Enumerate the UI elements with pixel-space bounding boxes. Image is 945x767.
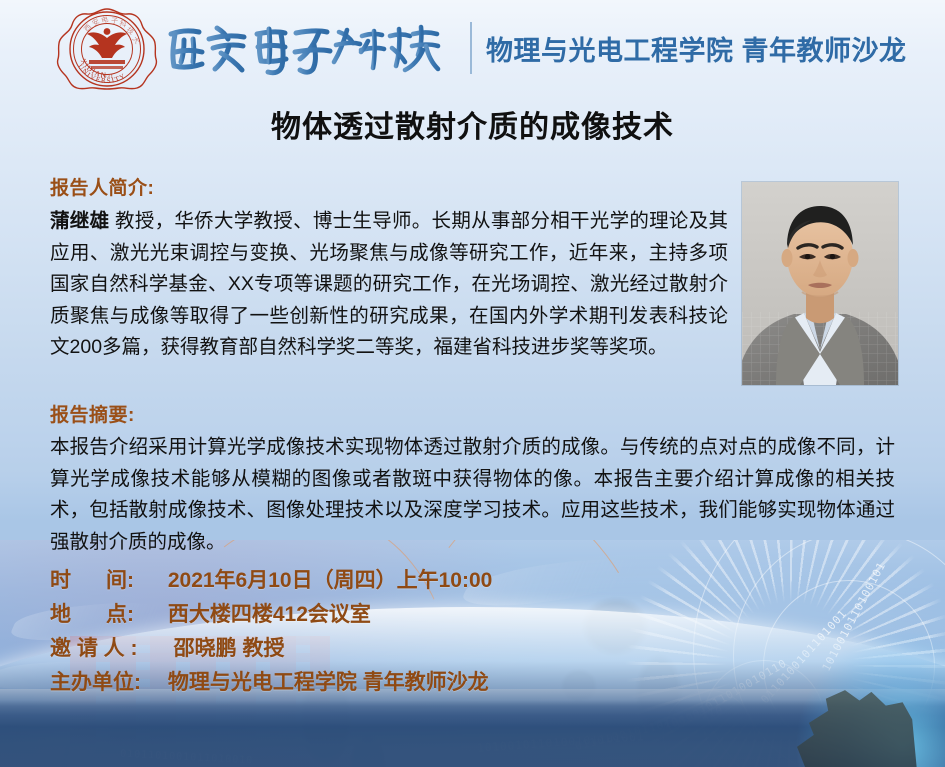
seminar-poster: 1010010110100101 0110100101101001 101001… [0, 0, 945, 767]
svg-text:安: 安 [90, 16, 101, 27]
event-info-block: 时 间: 2021年6月10日（周四）上午10:00 地 点: 西大楼四楼412… [50, 565, 650, 701]
department-title: 物理与光电工程学院 青年教师沙龙 [486, 29, 907, 68]
info-label: 地 点: [50, 599, 162, 630]
speaker-name: 蒲继雄 [50, 210, 109, 232]
speaker-bio-heading: 报告人简介: [50, 173, 154, 200]
poster-header: XIDIAN UNIVERSITY 1931 西 安 电 子 科 技 大 [0, 0, 945, 95]
info-label: 时 间: [50, 565, 162, 596]
info-value: 2021年6月10日（周四）上午10:00 [162, 565, 492, 596]
svg-text:1931: 1931 [100, 74, 114, 80]
abstract-heading: 报告摘要: [50, 400, 135, 427]
abstract-text: 本报告介绍采用计算光学成像技术实现物体透过散射介质的成像。与传统的点对点的成像不… [50, 432, 895, 558]
speaker-portrait-photo [742, 182, 898, 385]
info-row-organizer: 主办单位: 物理与光电工程学院 青年教师沙龙 [50, 667, 650, 698]
info-row-location: 地 点: 西大楼四楼412会议室 [50, 599, 650, 630]
info-value: 西大楼四楼412会议室 [162, 599, 371, 630]
info-row-inviter: 邀 请 人 : 邵晓鹏 教授 [50, 633, 650, 664]
info-value: 物理与光电工程学院 青年教师沙龙 [162, 667, 489, 698]
svg-text:技: 技 [125, 25, 136, 36]
speaker-bio-text: 蒲继雄 教授，华侨大学教授、博士生导师。长期从事部分相干光学的理论及其应用、激光… [50, 206, 728, 364]
speaker-bio-body: 教授，华侨大学教授、博士生导师。长期从事部分相干光学的理论及其应用、激光光束调控… [50, 210, 728, 358]
header-divider [470, 22, 472, 74]
info-value: 邵晓鹏 教授 [162, 633, 285, 664]
info-label: 主办单位: [50, 667, 162, 698]
info-label: 邀 请 人 : [50, 633, 162, 664]
svg-text:子: 子 [111, 17, 118, 25]
info-row-time: 时 间: 2021年6月10日（周四）上午10:00 [50, 565, 650, 596]
page-title: 物体透过散射介质的成像技术 [0, 102, 945, 146]
university-name-calligraphy [163, 12, 463, 84]
xidian-university-seal-logo: XIDIAN UNIVERSITY 1931 西 安 电 子 科 技 大 [45, 6, 169, 92]
